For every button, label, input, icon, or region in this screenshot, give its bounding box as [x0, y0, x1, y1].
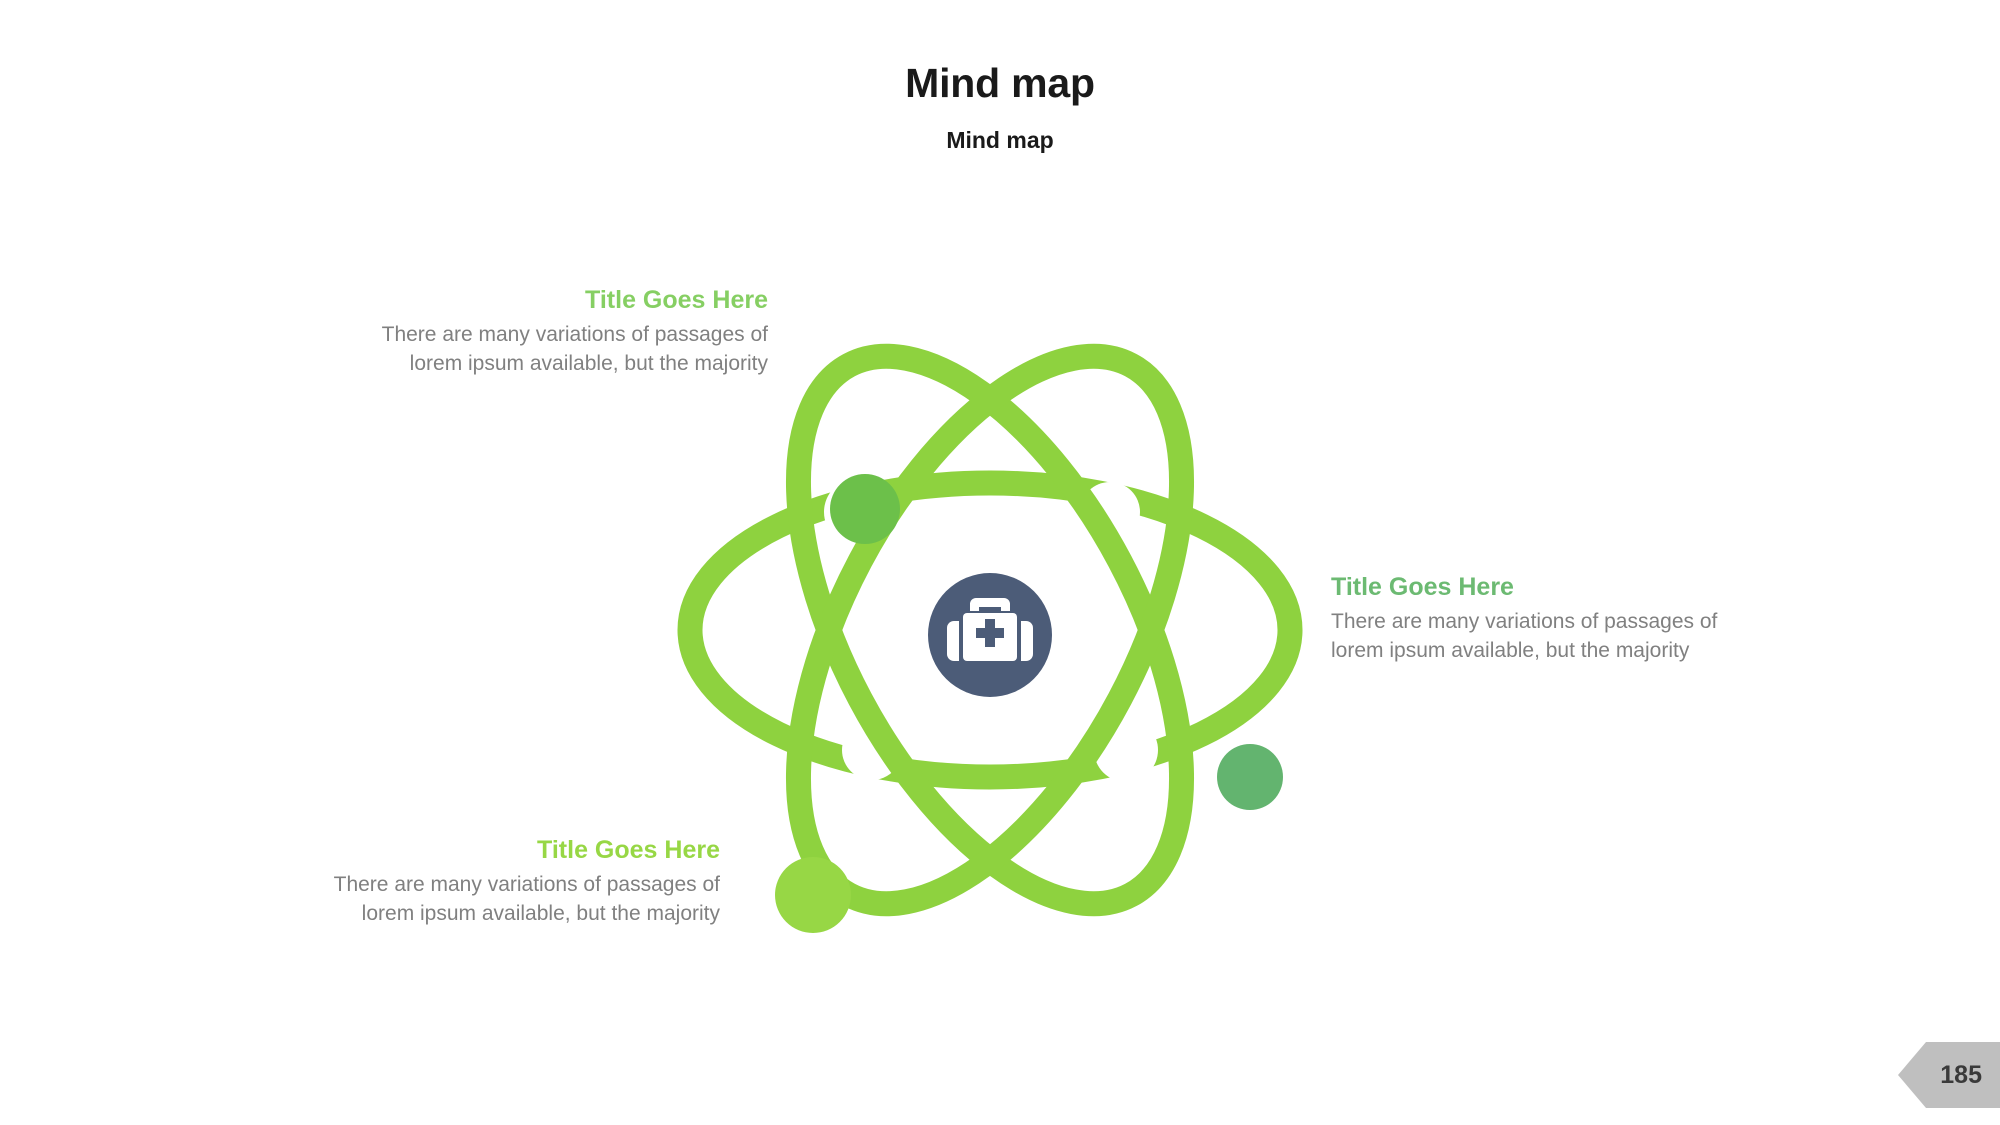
callout-bottom-left: Title Goes Here There are many variation…: [250, 835, 720, 929]
callout-body: There are many variations of passages of…: [250, 866, 720, 929]
callout-body: There are many variations of passages of…: [290, 316, 768, 379]
callout-title: Title Goes Here: [250, 835, 720, 866]
atom-orbit-diagram: [640, 280, 1340, 980]
page-subtitle: Mind map: [0, 107, 2000, 154]
nucleus-group: [928, 573, 1052, 697]
page-number: 185: [1940, 1042, 1982, 1108]
callout-title: Title Goes Here: [290, 285, 768, 316]
electron-right: [1217, 744, 1283, 810]
callout-title: Title Goes Here: [1331, 572, 1811, 603]
slide: Mind map Mind map: [0, 0, 2000, 1125]
callout-right: Title Goes Here There are many variation…: [1331, 572, 1811, 666]
page-title: Mind map: [0, 60, 2000, 107]
electron-top-left: [830, 474, 900, 544]
callout-top-left: Title Goes Here There are many variation…: [290, 285, 768, 379]
slide-header: Mind map Mind map: [0, 60, 2000, 154]
page-number-badge: 185: [1898, 1042, 2000, 1108]
electron-bottom-left: [775, 857, 851, 933]
callout-body: There are many variations of passages of…: [1331, 603, 1811, 666]
